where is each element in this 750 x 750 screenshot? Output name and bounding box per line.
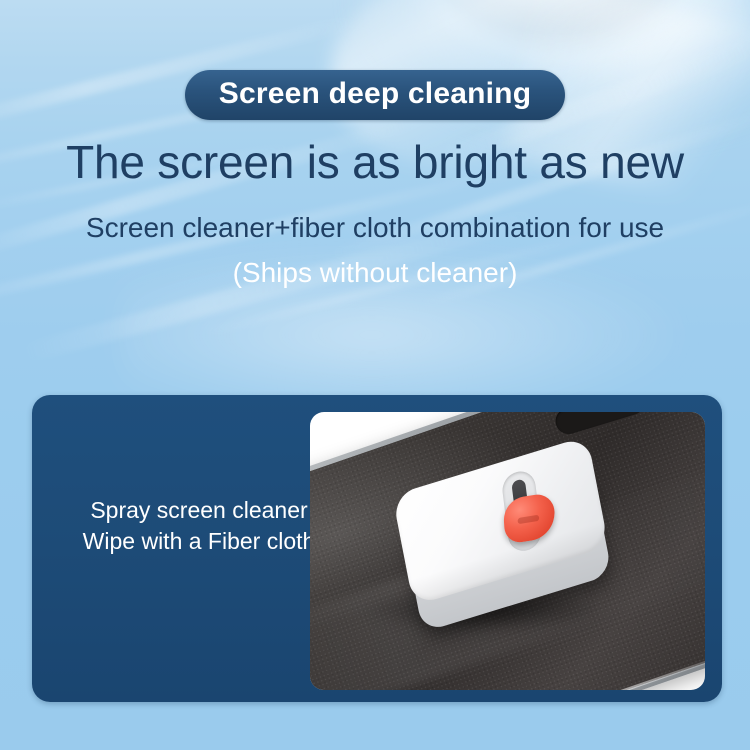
page-title: The screen is as bright as new [0,138,750,186]
shipping-note: (Ships without cleaner) [0,258,750,289]
subtitle-combination: Screen cleaner+fiber cloth combination f… [0,213,750,244]
instruction-card: Spray screen cleaner Wipe with a Fiber c… [32,395,722,702]
instruction-line-1: Spray screen cleaner [54,495,344,526]
badge-container: Screen deep cleaning [0,70,750,120]
instruction-text-block: Spray screen cleaner Wipe with a Fiber c… [54,495,344,556]
product-photo-scene [310,412,705,690]
product-photo [310,412,705,690]
slider-grip-icon [518,515,540,524]
swirl-ring-outer [395,0,725,60]
swirl-ring-inner [430,0,680,30]
product-poster: Screen deep cleaning The screen is as br… [0,0,750,750]
instruction-line-2: Wipe with a Fiber cloth [54,526,344,557]
deep-cleaning-badge: Screen deep cleaning [185,70,565,120]
